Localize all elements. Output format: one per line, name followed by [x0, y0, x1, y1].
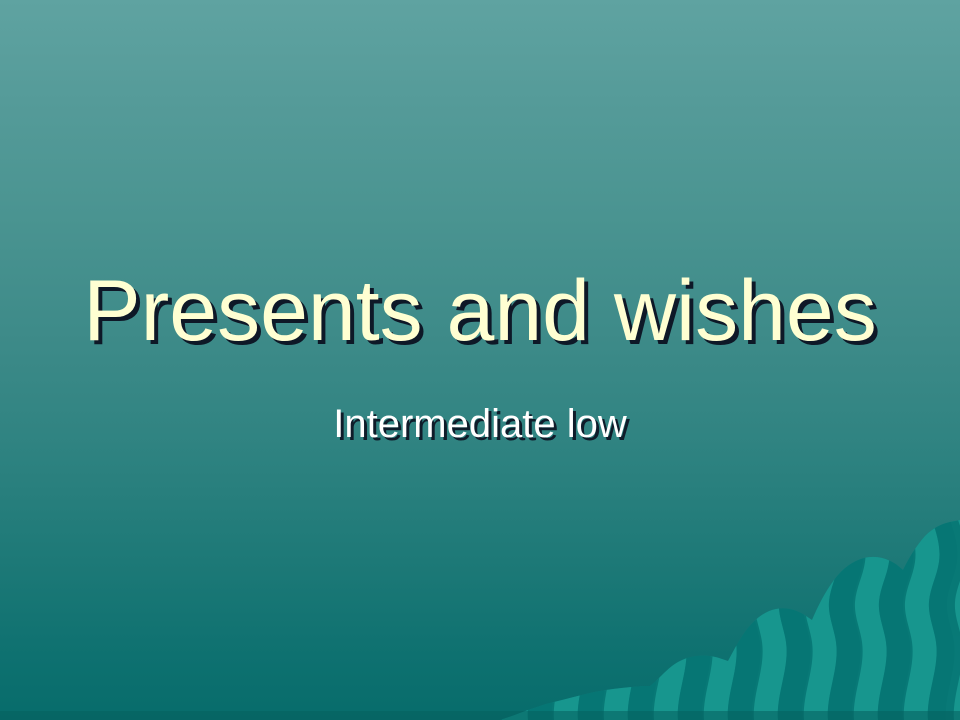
- slide-text-block: Presents and wishes Intermediate low: [0, 0, 960, 720]
- presentation-slide: Presents and wishes Intermediate low: [0, 0, 960, 720]
- slide-subtitle: Intermediate low: [0, 404, 960, 444]
- page-title: Presents and wishes: [0, 268, 960, 354]
